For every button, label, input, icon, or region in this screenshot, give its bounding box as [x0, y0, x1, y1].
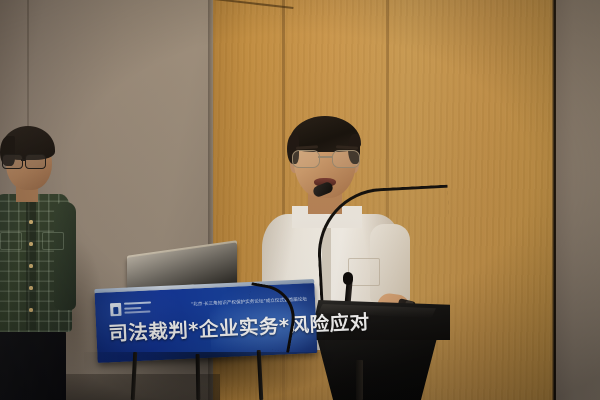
logo-mark [110, 303, 122, 316]
attendee-shirt-pocket [0, 232, 22, 250]
attendee-shirt-pocket [42, 232, 64, 250]
speaker-glasses-bridge [318, 156, 332, 158]
attendee-trousers [0, 326, 66, 400]
attendee-shirt-button [29, 286, 33, 290]
lectern-leg [356, 360, 363, 400]
standing-attendee-left [0, 128, 84, 400]
attendee-shirt-button [29, 308, 33, 312]
attendee-arm [54, 202, 76, 310]
conference-photo-scene: "北京·长三角知识产权保护实务论坛"成立仪式暨首届论坛 司法裁判*企业实务*风险… [0, 0, 600, 400]
attendee-shirt-button [29, 264, 33, 268]
speaker-glasses-lens [292, 150, 320, 168]
attendee-glasses-lens [25, 154, 46, 169]
logo-text-line [124, 306, 141, 309]
attendee-glasses-bridge [21, 159, 26, 161]
secondary-microphone-capsule [343, 272, 353, 285]
lectern-body [316, 334, 438, 400]
glasses-icon [292, 150, 358, 166]
logo-text-line [124, 301, 151, 304]
intellectual-property-logo [110, 300, 153, 318]
attendee-shirt-button [29, 242, 33, 246]
logo-mark-inner [113, 307, 118, 314]
stage-shadow [84, 352, 334, 400]
logo-text-line [124, 311, 150, 314]
attendee-glasses-lens [2, 154, 23, 169]
glasses-icon [2, 154, 48, 167]
speaker-glasses-lens [332, 150, 360, 168]
grey-wall-right [556, 0, 600, 400]
attendee-shirt-button [29, 220, 33, 224]
